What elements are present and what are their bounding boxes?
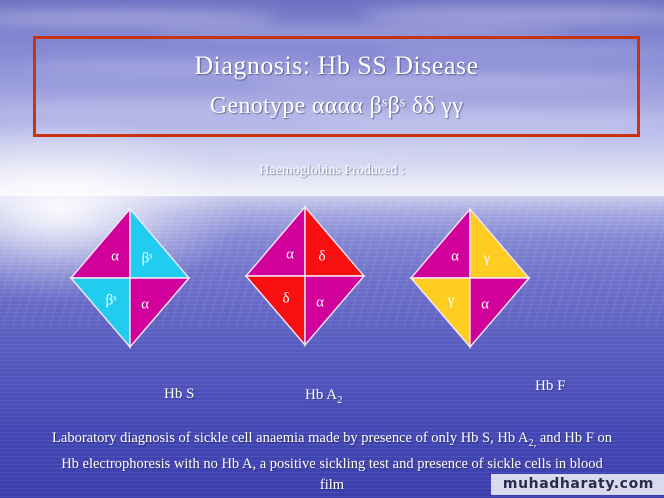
genotype-text: Genotype αααα βˢβˢ δδ γγ bbox=[210, 93, 463, 119]
bottom-caption-line-2: Hb electrophoresis with no Hb A, a posit… bbox=[8, 454, 656, 475]
quadrant-label: βˢ bbox=[106, 292, 117, 308]
quadrant-top-left bbox=[246, 207, 305, 276]
diagram-hb-s: α βˢ βˢ α bbox=[71, 209, 189, 347]
diagram-hb-f: α γ γ α bbox=[411, 209, 529, 347]
quadrant-bottom-left bbox=[411, 278, 470, 347]
quadrant-label: α bbox=[481, 296, 489, 312]
quadrant-label: α bbox=[286, 246, 294, 262]
quadrant-label: α bbox=[111, 248, 119, 264]
title-box: Diagnosis: Hb SS Disease Genotype αααα β… bbox=[33, 36, 640, 137]
quadrant-label: δ bbox=[282, 290, 289, 306]
quadrant-bottom-right bbox=[305, 276, 364, 345]
cloud-wisp-icon bbox=[0, 10, 280, 26]
quadrant-label: γ bbox=[483, 250, 491, 266]
diagram-hb-a2: α δ δ α bbox=[246, 207, 364, 345]
slide-canvas: Diagnosis: Hb SS Disease Genotype αααα β… bbox=[0, 0, 664, 498]
quadrant-label: α bbox=[141, 296, 149, 312]
bottom-caption-line-1: Laboratory diagnosis of sickle cell anae… bbox=[8, 428, 656, 454]
quadrant-bottom-right bbox=[130, 278, 189, 347]
label-hb-a2-subscript: 2 bbox=[337, 394, 342, 406]
quadrant-top-left bbox=[411, 209, 470, 278]
bottom-caption-line-1-a: Laboratory diagnosis of sickle cell anae… bbox=[52, 430, 528, 446]
quadrant-top-left bbox=[71, 209, 130, 278]
page-title: Diagnosis: Hb SS Disease bbox=[36, 51, 637, 81]
quadrant-bottom-left bbox=[71, 278, 130, 347]
quadrant-label: βˢ bbox=[142, 250, 153, 266]
quadrant-top-right bbox=[470, 209, 529, 278]
quadrant-top-right bbox=[130, 209, 189, 278]
section-caption: Haemoglobins Produced : bbox=[0, 163, 664, 179]
watermark: muhadharaty.com bbox=[491, 474, 664, 495]
quadrant-label: δ bbox=[318, 248, 325, 264]
quadrant-label: γ bbox=[447, 292, 455, 308]
quadrant-bottom-left bbox=[246, 276, 305, 345]
bottom-caption-line-1-c: and Hb F on bbox=[536, 430, 612, 446]
quadrant-bottom-right bbox=[470, 278, 529, 347]
cloud-wisp-icon bbox=[360, 6, 664, 24]
quadrant-top-right bbox=[305, 207, 364, 276]
label-hb-s: Hb S bbox=[164, 386, 194, 403]
genotype-line: Genotype αααα βˢβˢ δδ γγ bbox=[36, 93, 637, 120]
label-hb-f: Hb F bbox=[535, 378, 565, 395]
label-hb-a2: Hb A2 bbox=[305, 387, 343, 406]
quadrant-label: α bbox=[451, 248, 459, 264]
label-hb-a2-base: Hb A bbox=[305, 387, 337, 403]
quadrant-label: α bbox=[316, 294, 324, 310]
